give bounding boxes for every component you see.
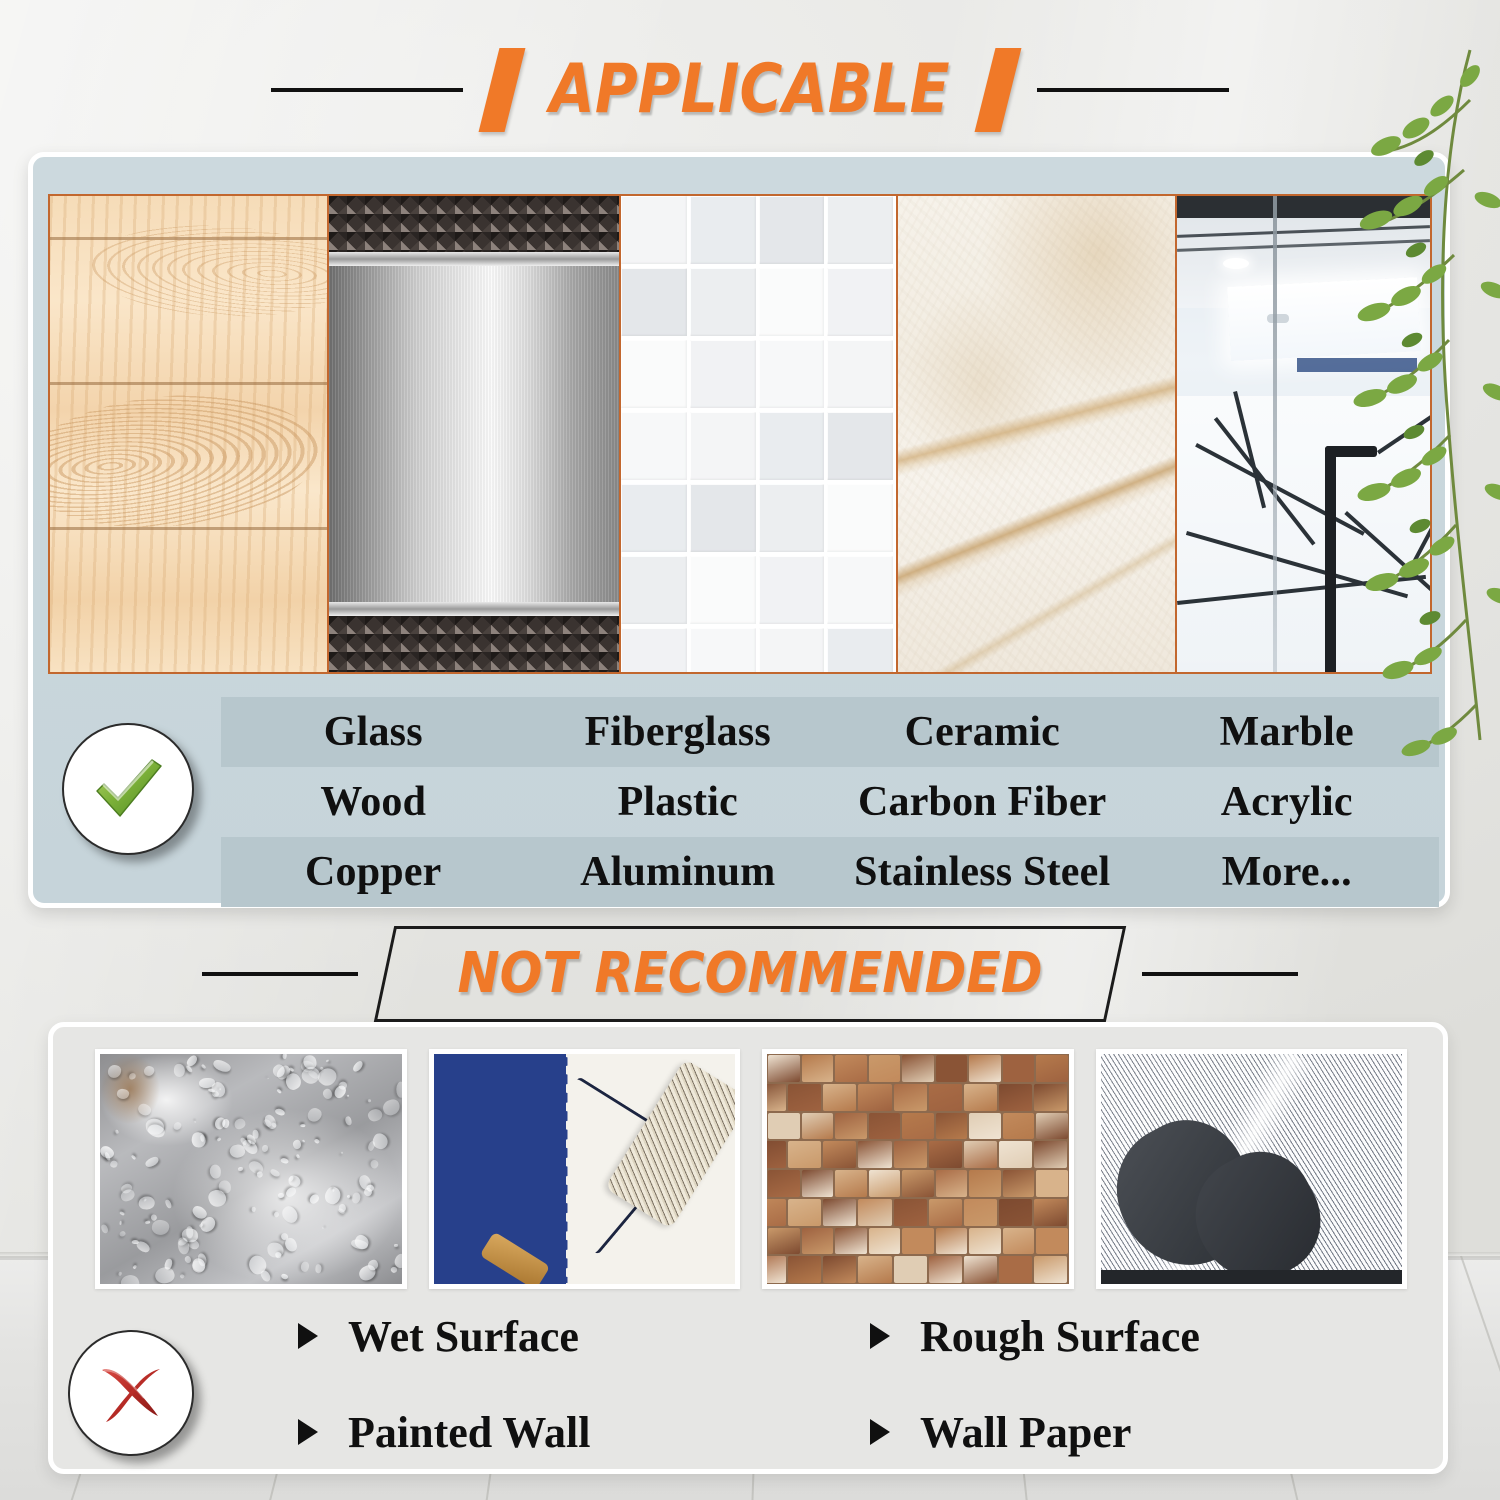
not-recommended-section-header: NOT RECOMMENDED [0,922,1500,1026]
triangle-bullet-icon [298,1419,318,1445]
orange-slash-right-icon [974,48,1021,132]
material-row: Wood Plastic Carbon Fiber Acrylic [221,767,1439,837]
list-item: Wall Paper [828,1407,1400,1458]
material-cell: Ceramic [830,708,1135,756]
diamond-plate-top [329,196,619,252]
material-row: Copper Aluminum Stainless Steel More... [221,837,1439,907]
list-item: Wet Surface [280,1311,828,1362]
material-cell: Wood [221,778,526,826]
brushed-steel-surface [329,266,619,602]
wood-panel-image [50,196,329,672]
brushed-metal-image [329,196,621,672]
painted-wall-photo [429,1049,741,1289]
applicable-materials-grid: Glass Fiberglass Ceramic Marble Wood Pla… [221,697,1439,907]
applicable-section-header: APPLICABLE [0,42,1500,138]
material-image-strip [48,194,1432,674]
list-item-label: Wet Surface [348,1311,579,1362]
not-recommended-banner: NOT RECOMMENDED [374,926,1126,1022]
list-item: Painted Wall [280,1407,828,1458]
list-item-label: Rough Surface [920,1311,1200,1362]
material-cell: More... [1135,848,1440,896]
material-cell: Marble [1135,708,1440,756]
list-item-label: Painted Wall [348,1407,590,1458]
material-cell: Acrylic [1135,778,1440,826]
header-rule-left [202,972,358,976]
check-mark-icon [62,723,194,855]
material-cell: Fiberglass [526,708,831,756]
material-row: Glass Fiberglass Ceramic Marble [221,697,1439,767]
not-recommended-title: NOT RECOMMENDED [457,929,1042,1019]
material-cell: Stainless Steel [830,848,1135,896]
material-cell: Carbon Fiber [830,778,1135,826]
not-recommended-list: Wet Surface Rough Surface Painted Wall W… [280,1288,1400,1480]
applicable-panel: Glass Fiberglass Ceramic Marble Wood Pla… [28,152,1450,908]
ceramic-tile-image [621,196,898,672]
wall-paper-photo [1096,1049,1408,1289]
material-cell: Copper [221,848,526,896]
header-rule-right [1037,88,1229,92]
list-item: Rough Surface [828,1311,1400,1362]
diamond-plate-bottom [329,616,619,672]
material-cell: Glass [221,708,526,756]
header-rule-left [271,88,463,92]
triangle-bullet-icon [298,1323,318,1349]
list-row: Painted Wall Wall Paper [280,1384,1400,1480]
triangle-bullet-icon [870,1323,890,1349]
list-row: Wet Surface Rough Surface [280,1288,1400,1384]
not-recommended-photo-row [95,1049,1407,1289]
material-cell: Aluminum [526,848,831,896]
applicable-title: APPLICABLE [550,48,950,132]
rough-surface-photo [762,1049,1074,1289]
list-item-label: Wall Paper [920,1407,1131,1458]
triangle-bullet-icon [870,1419,890,1445]
orange-slash-left-icon [479,48,526,132]
header-rule-right [1142,972,1298,976]
glass-partition-image [1177,196,1430,672]
wet-surface-photo [95,1049,407,1289]
material-cell: Plastic [526,778,831,826]
marble-slab-image [898,196,1177,672]
cross-mark-icon [68,1330,194,1456]
